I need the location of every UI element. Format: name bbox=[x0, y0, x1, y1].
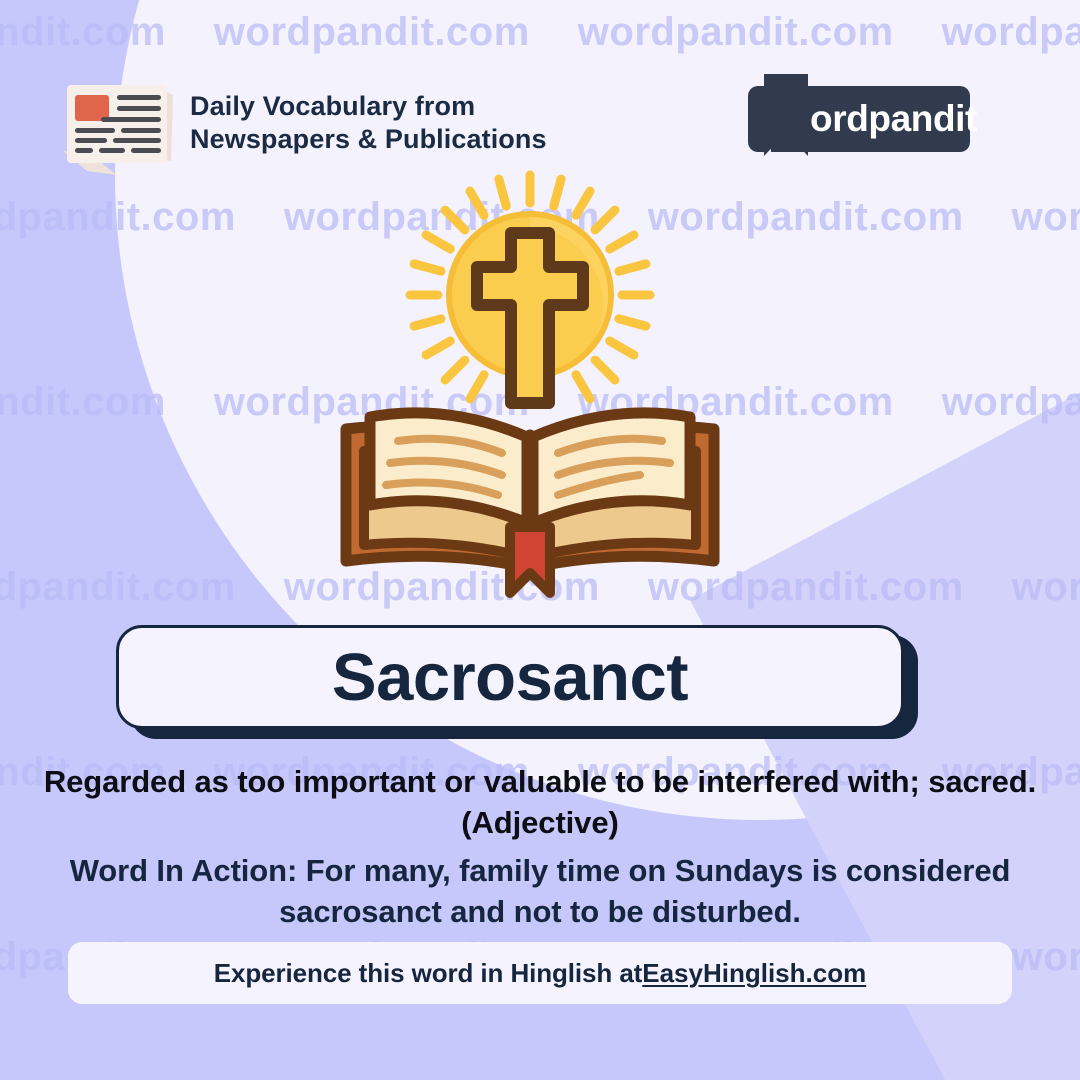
word-in-action: Word In Action: For many, family time on… bbox=[60, 850, 1020, 932]
header-title-line2: Newspapers & Publications bbox=[190, 123, 547, 156]
footer-bar: Experience this word in Hinglish at Easy… bbox=[68, 942, 1012, 1004]
bible-with-cross-illustration bbox=[320, 165, 740, 605]
red-bookmark-ribbon bbox=[510, 527, 550, 593]
vocabulary-card-canvas: wordpandit.comwordpandit.comwordpandit.c… bbox=[0, 0, 1080, 1080]
word-card-face: Sacrosanct bbox=[116, 625, 904, 729]
wordpandit-logo[interactable]: ordpandit bbox=[748, 86, 970, 152]
open-book-icon bbox=[346, 413, 714, 593]
logo-text: ordpandit bbox=[810, 98, 977, 140]
word-definition: Regarded as too important or valuable to… bbox=[40, 762, 1040, 844]
vocabulary-word: Sacrosanct bbox=[332, 639, 688, 716]
header-title: Daily Vocabulary from Newspapers & Publi… bbox=[190, 90, 547, 155]
footer-prefix: Experience this word in Hinglish at bbox=[214, 958, 642, 989]
newspaper-icon bbox=[57, 73, 183, 179]
word-card: Sacrosanct bbox=[116, 625, 904, 729]
easyhinglish-link[interactable]: EasyHinglish.com bbox=[642, 958, 866, 989]
header: Daily Vocabulary from Newspapers & Publi… bbox=[0, 68, 1080, 178]
header-title-line1: Daily Vocabulary from bbox=[190, 90, 547, 123]
